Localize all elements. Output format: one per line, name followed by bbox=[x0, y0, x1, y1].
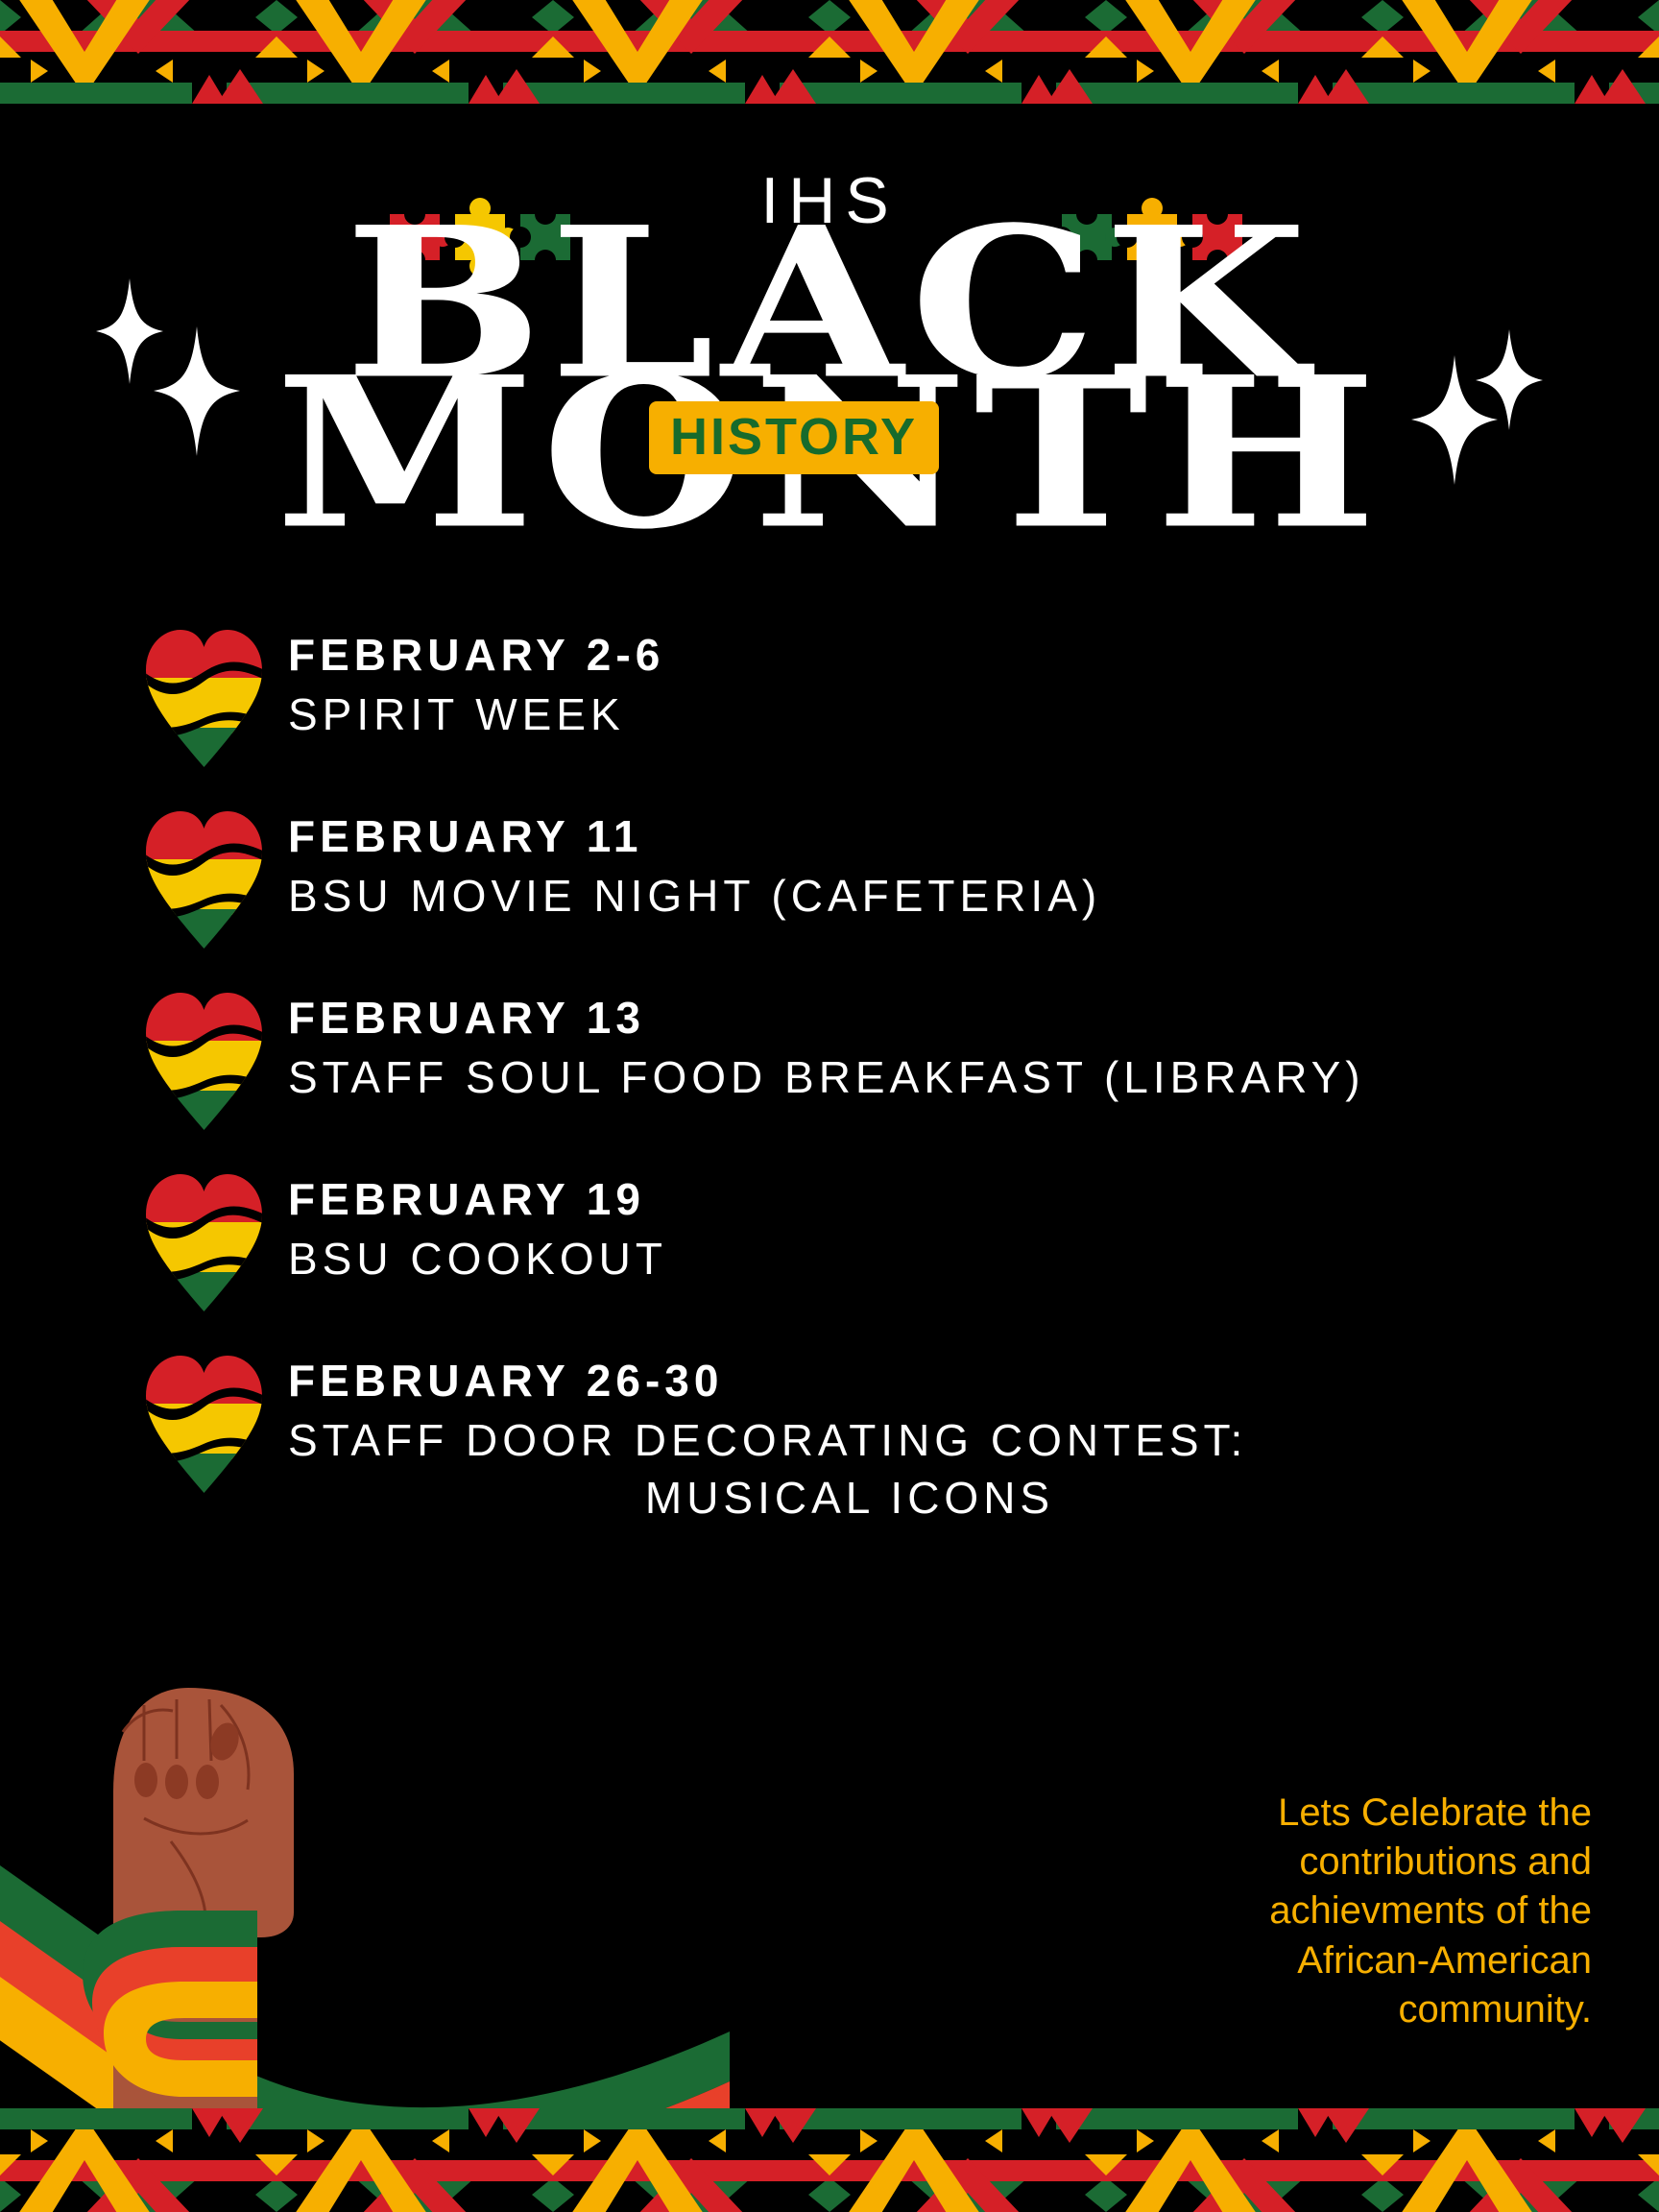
list-item: FEBRUARY 11 BSU MOVIE NIGHT (CAFETERIA) bbox=[144, 805, 1584, 949]
event-name: SPIRIT WEEK bbox=[288, 686, 1584, 744]
history-badge: HISTORY bbox=[649, 401, 939, 474]
list-item: FEBRUARY 26-30 STAFF DOOR DECORATING CON… bbox=[144, 1350, 1584, 1527]
event-text: FEBRUARY 19 BSU COOKOUT bbox=[288, 1168, 1584, 1288]
heart-icon bbox=[144, 1350, 288, 1493]
heart-icon bbox=[144, 1168, 288, 1311]
list-item: FEBRUARY 13 STAFF SOUL FOOD BREAKFAST (L… bbox=[144, 987, 1584, 1130]
event-date: FEBRUARY 13 bbox=[288, 993, 1584, 1044]
list-item: FEBRUARY 2-6 SPIRIT WEEK bbox=[144, 624, 1584, 767]
event-name: BSU MOVIE NIGHT (CAFETERIA) bbox=[288, 868, 1584, 926]
event-text: FEBRUARY 11 BSU MOVIE NIGHT (CAFETERIA) bbox=[288, 805, 1584, 926]
heart-icon bbox=[144, 987, 288, 1130]
event-name: STAFF SOUL FOOD BREAKFAST (LIBRARY) bbox=[288, 1049, 1584, 1107]
event-name-line-2: MUSICAL ICONS bbox=[288, 1470, 1584, 1527]
event-name: BSU COOKOUT bbox=[288, 1231, 1584, 1288]
top-border-pattern bbox=[0, 0, 1659, 104]
event-text: FEBRUARY 13 STAFF SOUL FOOD BREAKFAST (L… bbox=[288, 987, 1584, 1107]
event-date: FEBRUARY 11 bbox=[288, 811, 1584, 862]
event-text: FEBRUARY 26-30 STAFF DOOR DECORATING CON… bbox=[288, 1350, 1584, 1527]
list-item: FEBRUARY 19 BSU COOKOUT bbox=[144, 1168, 1584, 1311]
headline-block: IHS BLACK MONTH bbox=[0, 168, 1659, 619]
heart-icon bbox=[144, 624, 288, 767]
tagline-text: Lets Celebrate the contributions and ach… bbox=[1179, 1789, 1592, 2034]
heart-icon bbox=[144, 805, 288, 949]
event-name-line-1: STAFF DOOR DECORATING CONTEST: bbox=[288, 1415, 1247, 1465]
bottom-border-pattern bbox=[0, 2108, 1659, 2212]
raised-fist-illustration bbox=[0, 1686, 730, 2137]
event-date: FEBRUARY 2-6 bbox=[288, 630, 1584, 681]
event-name: STAFF DOOR DECORATING CONTEST: MUSICAL I… bbox=[288, 1412, 1584, 1527]
event-date: FEBRUARY 26-30 bbox=[288, 1356, 1584, 1407]
poster-canvas: IHS BLACK MONTH HISTORY bbox=[0, 0, 1659, 2212]
event-date: FEBRUARY 19 bbox=[288, 1174, 1584, 1225]
event-list: FEBRUARY 2-6 SPIRIT WEEK bbox=[144, 624, 1584, 1565]
event-text: FEBRUARY 2-6 SPIRIT WEEK bbox=[288, 624, 1584, 744]
